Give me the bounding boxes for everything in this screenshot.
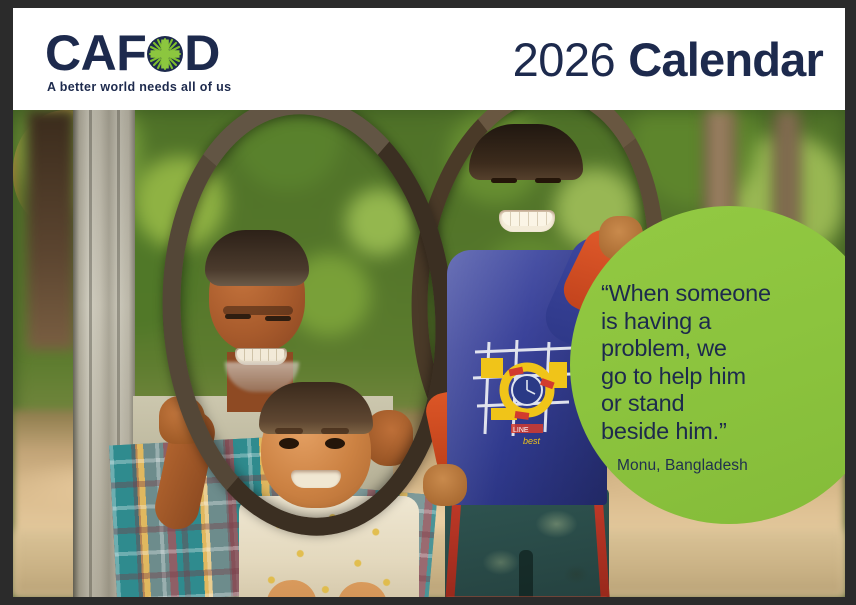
svg-text:LINE: LINE [513,427,529,434]
boy-eye-right [535,178,561,183]
post-shadow-behind [27,110,75,350]
boy-shorts-hem [445,596,609,597]
wordmark-text-before: CAF [45,30,146,76]
cover-header: CAF [13,8,845,110]
boy-eye-left [491,178,517,183]
boy-shorts-split [519,550,533,597]
logo-tagline: A better world needs all of us [47,80,231,94]
cover-photograph: LINE best “When someone is having a prob… [13,110,845,597]
quote-text: “When someone is having a problem, we go… [601,280,845,445]
title-word: Calendar [628,33,823,86]
boy-smile [499,210,555,232]
calendar-cover-page: CAF [13,8,845,597]
boy-teeth [502,212,552,226]
title-year: 2026 [513,33,616,86]
cafod-cross-emblem-icon [147,36,183,72]
cafod-logo[interactable]: CAF [45,30,275,100]
quote-attribution: Monu, Bangladesh [617,457,845,475]
boy-shirt-graphic-print: LINE best [465,338,585,448]
emblem-cross-rays-icon [147,36,183,72]
svg-text:best: best [523,436,541,446]
screenshot-viewport: CAF [0,0,856,605]
cafod-wordmark: CAF [45,30,275,76]
boy-hand-lower [423,464,467,506]
page-title: 2026 Calendar [513,34,823,86]
shirt-print-icon: LINE best [465,338,585,448]
quote-block: “When someone is having a problem, we go… [601,280,845,475]
wordmark-text-after: D [184,30,220,76]
